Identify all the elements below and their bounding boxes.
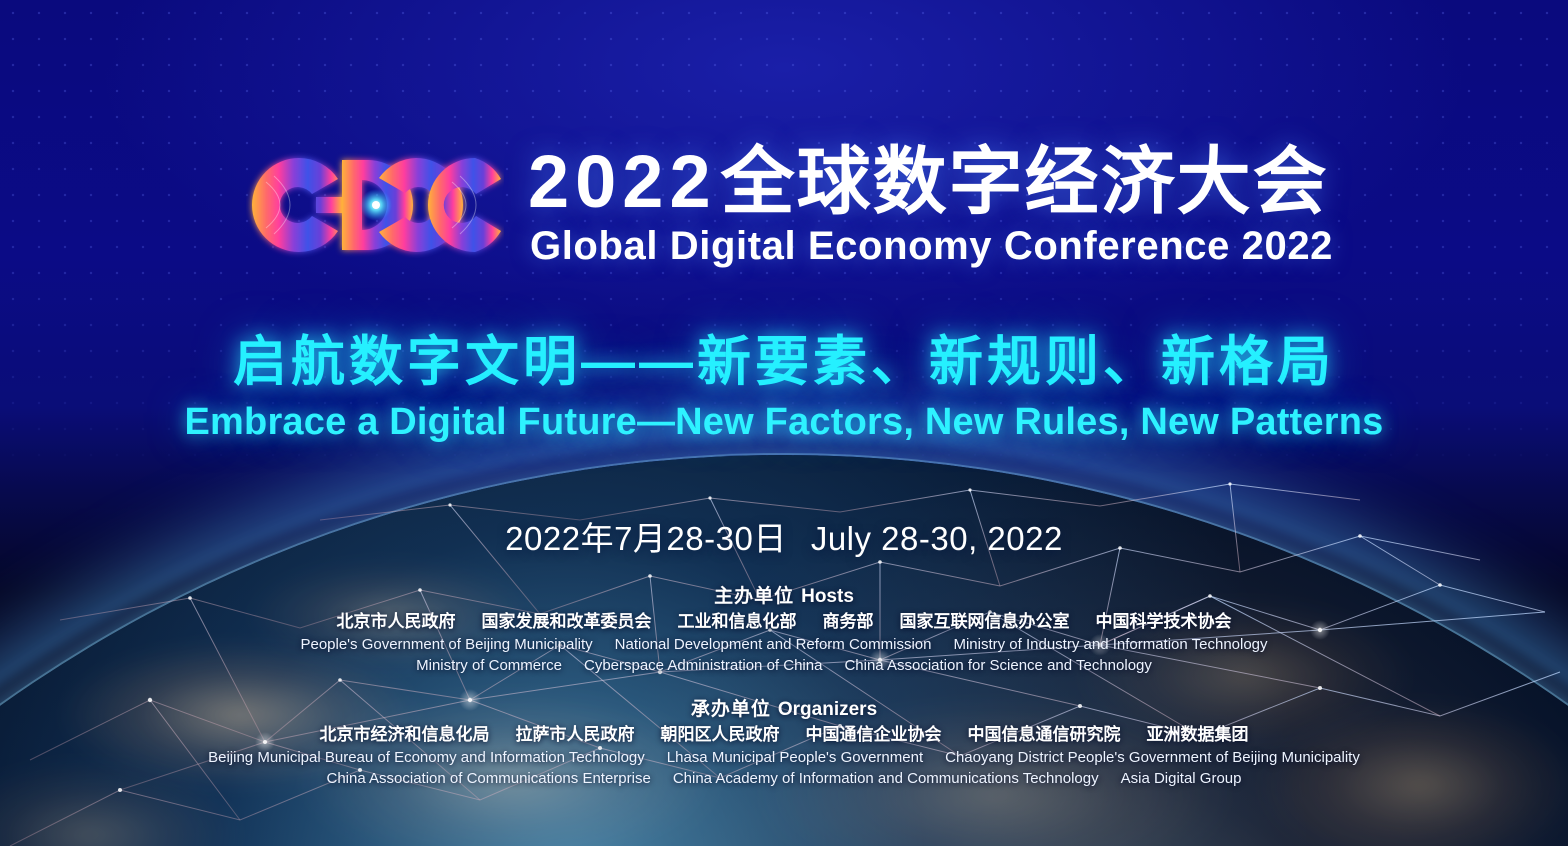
org-name: 北京市人民政府 [337,612,456,631]
org-name: China Academy of Information and Communi… [673,770,1099,787]
org-name: Beijing Municipal Bureau of Economy and … [208,749,645,766]
title-year: 2022 [528,140,717,223]
event-date-cn: 2022年7月28-30日 [505,520,787,557]
org-name: China Association of Communications Ente… [326,770,650,787]
org-line: Beijing Municipal Bureau of Economy and … [0,747,1568,768]
org-name: 拉萨市人民政府 [516,725,635,744]
org-name: Ministry of Commerce [416,657,562,674]
hosts-section: 主办单位Hosts 北京市人民政府国家发展和改革委员会工业和信息化部商务部国家互… [0,584,1568,676]
org-name: Asia Digital Group [1121,770,1242,787]
slogan-cn: 启航数字文明——新要素、新规则、新格局 [0,328,1568,396]
organizers-heading: 承办单位Organizers [0,697,1568,723]
org-line: 北京市经济和信息化局拉萨市人民政府朝阳区人民政府中国通信企业协会中国信息通信研究… [0,723,1568,747]
org-name: Chaoyang District People's Government of… [945,749,1360,766]
gdec-logo-mark [246,152,504,258]
page-title-en: Global Digital Economy Conference 2022 [530,222,1333,270]
org-name: Lhasa Municipal People's Government [667,749,923,766]
conference-poster: 2022全球数字经济大会 Global Digital Economy Conf… [0,0,1568,846]
org-name: 中国科学技术协会 [1096,612,1232,631]
org-name: Cyberspace Administration of China [584,657,822,674]
title-cn-text: 全球数字经济大会 [721,140,1329,223]
hosts-heading-cn: 主办单位 [714,586,794,607]
org-line: 北京市人民政府国家发展和改革委员会工业和信息化部商务部国家互联网信息办公室中国科… [0,610,1568,634]
event-date: 2022年7月28-30日July 28-30, 2022 [0,518,1568,560]
org-line: China Association of Communications Ente… [0,768,1568,789]
hosts-rows-cn: 北京市人民政府国家发展和改革委员会工业和信息化部商务部国家互联网信息办公室中国科… [0,610,1568,634]
event-date-en: July 28-30, 2022 [811,520,1063,557]
org-name: 中国信息通信研究院 [968,725,1121,744]
org-name: 国家互联网信息办公室 [900,612,1070,631]
org-name: China Association for Science and Techno… [844,657,1151,674]
org-name: People's Government of Beijing Municipal… [300,636,592,653]
page-title-cn: 2022全球数字经济大会 [528,140,1329,224]
org-name: 工业和信息化部 [678,612,797,631]
organizers-section: 承办单位Organizers 北京市经济和信息化局拉萨市人民政府朝阳区人民政府中… [0,697,1568,789]
org-name: 国家发展和改革委员会 [482,612,652,631]
org-name: 商务部 [823,612,874,631]
slogan-en: Embrace a Digital Future—New Factors, Ne… [0,398,1568,446]
org-line: Ministry of CommerceCyberspace Administr… [0,655,1568,676]
hosts-rows-en: People's Government of Beijing Municipal… [0,634,1568,676]
hosts-heading-en: Hosts [801,586,854,607]
org-name: 亚洲数据集团 [1147,725,1249,744]
org-name: 中国通信企业协会 [806,725,942,744]
org-name: Ministry of Industry and Information Tec… [953,636,1267,653]
organizers-rows-cn: 北京市经济和信息化局拉萨市人民政府朝阳区人民政府中国通信企业协会中国信息通信研究… [0,723,1568,747]
organizers-rows-en: Beijing Municipal Bureau of Economy and … [0,747,1568,789]
org-name: National Development and Reform Commissi… [615,636,932,653]
hosts-heading: 主办单位Hosts [0,584,1568,610]
organizers-heading-en: Organizers [778,699,877,720]
org-line: People's Government of Beijing Municipal… [0,634,1568,655]
org-name: 北京市经济和信息化局 [320,725,490,744]
organizers-heading-cn: 承办单位 [691,699,771,720]
gdec-logo [246,152,504,258]
org-name: 朝阳区人民政府 [661,725,780,744]
